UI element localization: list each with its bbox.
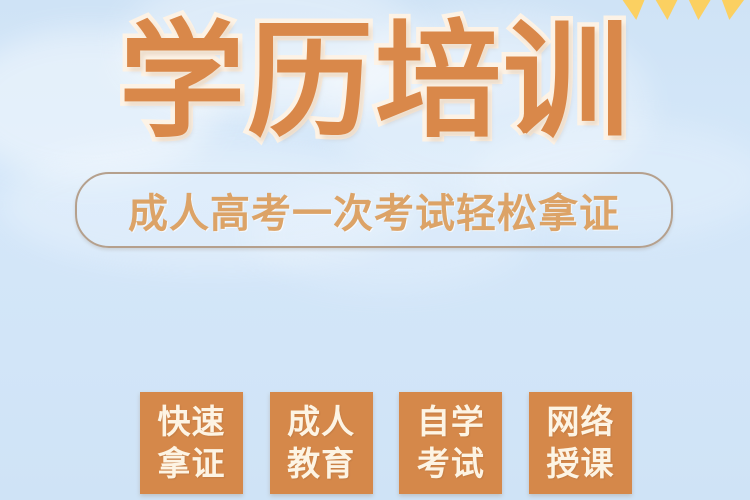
tag-box-self-study-exam[interactable]: 自学 考试 <box>399 392 502 494</box>
tag-box-fast-certificate[interactable]: 快速 拿证 <box>140 392 243 494</box>
poster-headline: 学历培训 <box>0 6 750 158</box>
tag-line-1: 自学 <box>417 401 485 443</box>
tag-box-online-teaching[interactable]: 网络 授课 <box>529 392 632 494</box>
tag-line-1: 快速 <box>158 401 226 443</box>
tag-line-2: 拿证 <box>158 443 226 485</box>
tag-row: 快速 拿证 成人 教育 自学 考试 网络 授课 <box>140 392 632 494</box>
tag-line-2: 教育 <box>287 443 355 485</box>
tag-box-adult-education[interactable]: 成人 教育 <box>270 392 373 494</box>
tag-line-1: 成人 <box>287 401 355 443</box>
subtitle-pill: 成人高考一次考试轻松拿证 <box>75 172 673 248</box>
tag-line-2: 考试 <box>417 443 485 485</box>
tag-line-1: 网络 <box>546 401 614 443</box>
promo-poster: 学历培训 成人高考一次考试轻松拿证 快速 拿证 成人 教育 自学 考试 网络 授… <box>0 0 750 500</box>
tag-line-2: 授课 <box>546 443 614 485</box>
subtitle-text: 成人高考一次考试轻松拿证 <box>128 181 620 239</box>
